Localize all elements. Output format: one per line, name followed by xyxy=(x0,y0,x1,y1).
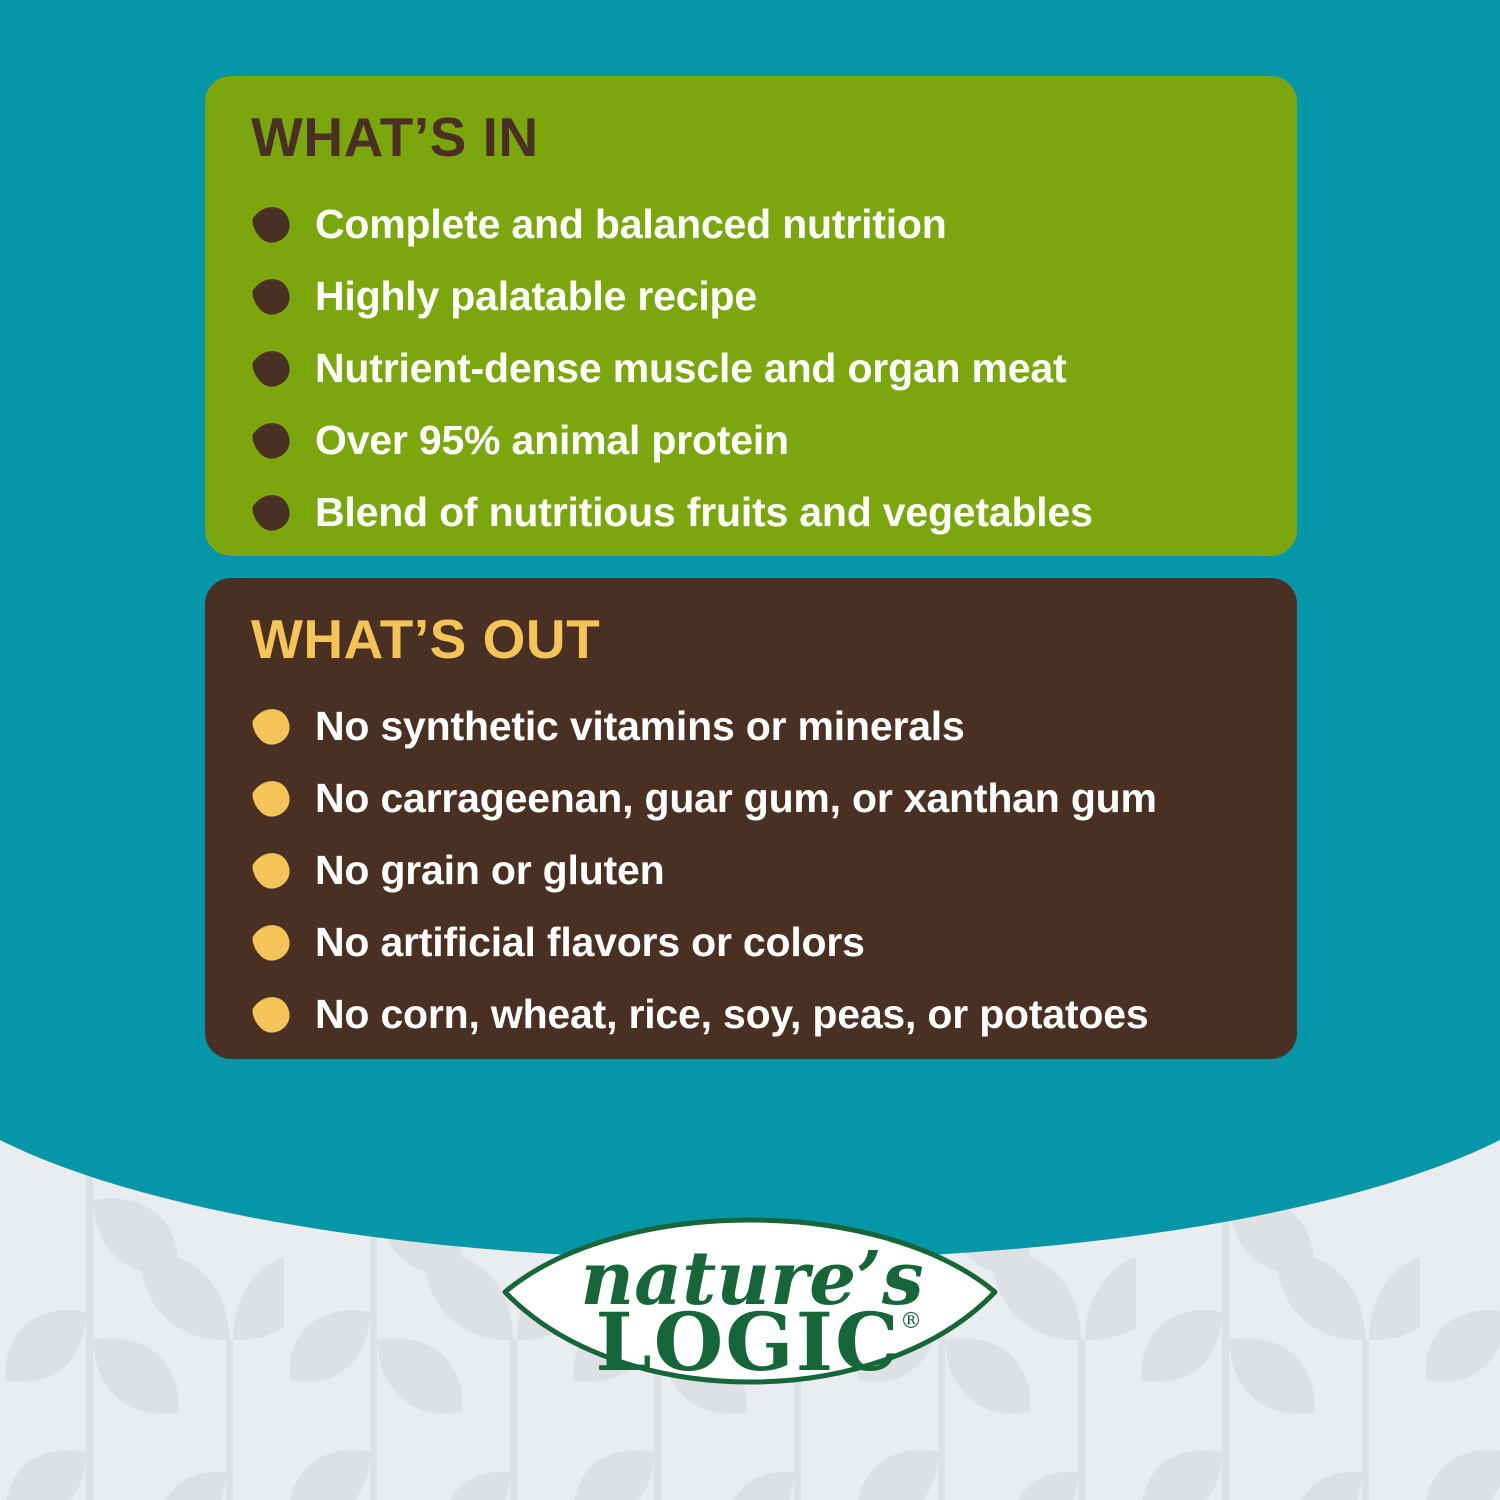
list-item-label: No synthetic vitamins or minerals xyxy=(315,704,965,748)
list-item: Over 95% animal protein xyxy=(251,407,1257,473)
list-item-label: No carrageenan, guar gum, or xanthan gum xyxy=(315,776,1157,820)
leaf-icon xyxy=(251,705,293,747)
whats-in-card: WHAT’S IN Complete and balanced nutritio… xyxy=(205,76,1297,556)
leaf-icon xyxy=(251,777,293,819)
whats-out-card: WHAT’S OUT No synthetic vitamins or mine… xyxy=(205,578,1297,1059)
logo-main-text: LOGIC xyxy=(595,1295,900,1389)
whats-out-list: No synthetic vitamins or minerals No car… xyxy=(251,693,1257,1047)
whats-in-list: Complete and balanced nutrition Highly p… xyxy=(251,191,1257,545)
list-item: Complete and balanced nutrition xyxy=(251,191,1257,257)
registered-mark-icon: ® xyxy=(900,1309,922,1334)
list-item-label: Complete and balanced nutrition xyxy=(315,202,947,246)
leaf-icon xyxy=(251,275,293,317)
leaf-icon xyxy=(251,921,293,963)
leaf-icon xyxy=(251,203,293,245)
list-item-label: Nutrient-dense muscle and organ meat xyxy=(315,346,1066,390)
list-item: No carrageenan, guar gum, or xanthan gum xyxy=(251,765,1257,831)
list-item-label: Blend of nutritious fruits and vegetable… xyxy=(315,490,1093,534)
list-item-label: No corn, wheat, rice, soy, peas, or pota… xyxy=(315,992,1148,1036)
infographic-canvas: WHAT’S IN Complete and balanced nutritio… xyxy=(0,0,1500,1500)
leaf-icon xyxy=(251,993,293,1035)
list-item-label: Highly palatable recipe xyxy=(315,274,757,318)
whats-in-title: WHAT’S IN xyxy=(251,110,1257,165)
leaf-icon xyxy=(251,419,293,461)
list-item: No synthetic vitamins or minerals xyxy=(251,693,1257,759)
list-item: Blend of nutritious fruits and vegetable… xyxy=(251,479,1257,545)
leaf-icon xyxy=(251,491,293,533)
list-item: No corn, wheat, rice, soy, peas, or pota… xyxy=(251,981,1257,1047)
brand-logo: nature’s LOGIC ® xyxy=(500,1212,1000,1452)
list-item: No grain or gluten xyxy=(251,837,1257,903)
list-item: No artificial flavors or colors xyxy=(251,909,1257,975)
list-item-label: Over 95% animal protein xyxy=(315,418,789,462)
leaf-icon xyxy=(251,347,293,389)
list-item: Highly palatable recipe xyxy=(251,263,1257,329)
list-item-label: No grain or gluten xyxy=(315,848,664,892)
leaf-icon xyxy=(251,849,293,891)
list-item: Nutrient-dense muscle and organ meat xyxy=(251,335,1257,401)
whats-out-title: WHAT’S OUT xyxy=(251,612,1257,667)
list-item-label: No artificial flavors or colors xyxy=(315,920,865,964)
